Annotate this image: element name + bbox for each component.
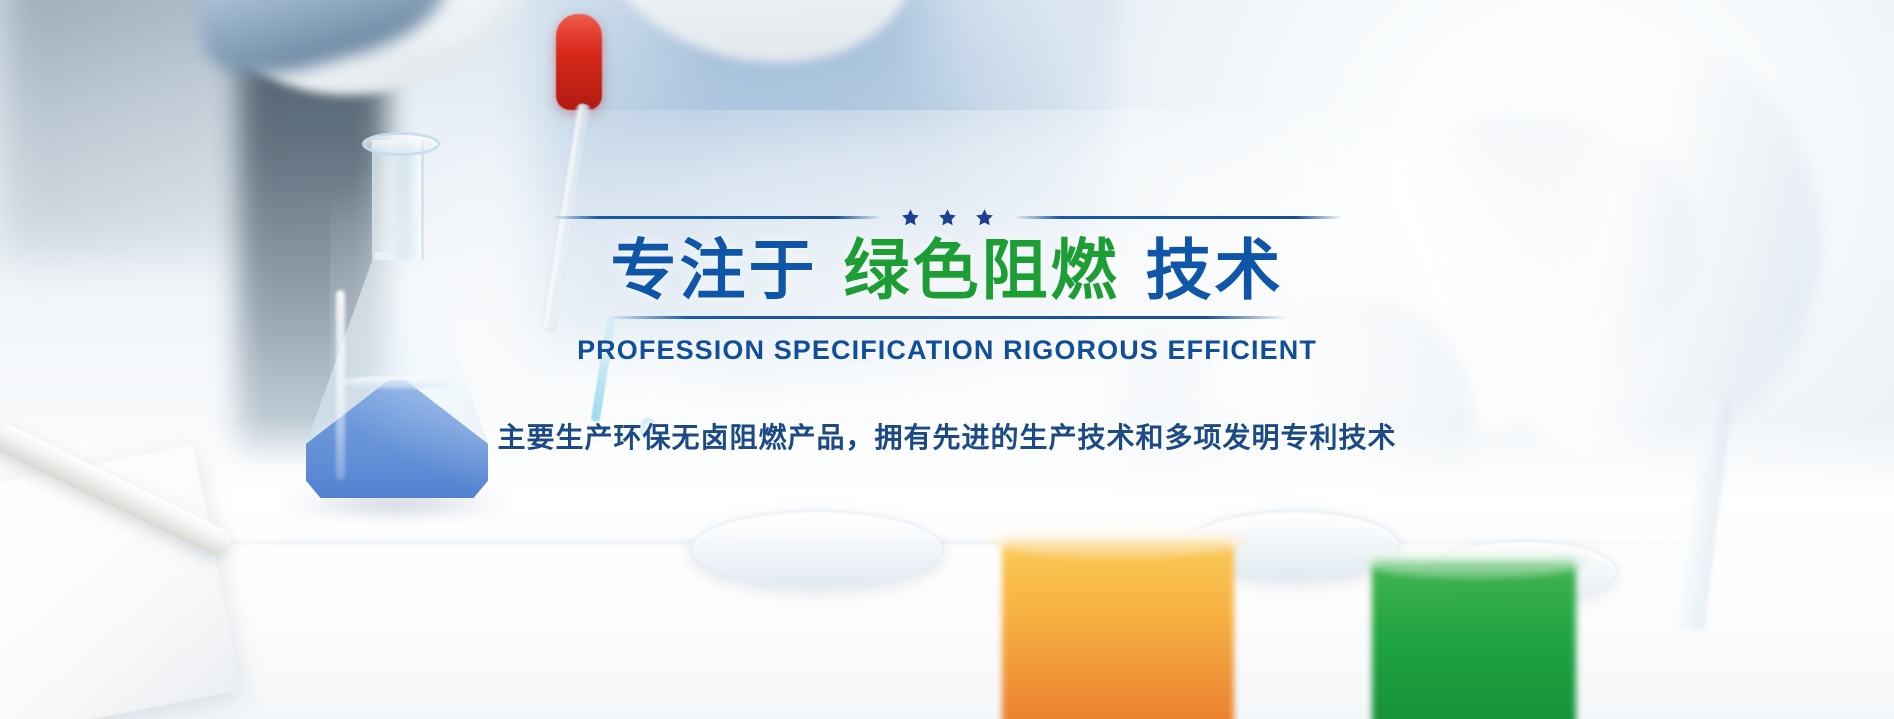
divider-rule-right (1014, 216, 1343, 219)
star-group (881, 208, 1014, 227)
star-icon (901, 208, 920, 227)
description-text: 主要生产环保无卤阻燃产品，拥有先进的生产技术和多项发明专利技术 (497, 416, 1396, 456)
hero-content: 专注于绿色阻燃技术 PROFESSION SPECIFICATION RIGOR… (0, 0, 1894, 719)
title-part-1: 专注于 (611, 232, 818, 309)
subtitle-english: PROFESSION SPECIFICATION RIGOROUS EFFICI… (577, 335, 1317, 366)
title-part-2: 绿色阻燃 (844, 232, 1120, 309)
star-icon (938, 208, 957, 227)
hero-banner: 专注于绿色阻燃技术 PROFESSION SPECIFICATION RIGOR… (0, 0, 1894, 719)
title-part-3: 技术 (1146, 232, 1284, 309)
page-title: 专注于绿色阻燃技术 (611, 236, 1284, 306)
title-underline-rule (607, 316, 1287, 319)
star-icon (975, 208, 994, 227)
divider-rule-left (552, 216, 881, 219)
star-divider (552, 206, 1342, 228)
